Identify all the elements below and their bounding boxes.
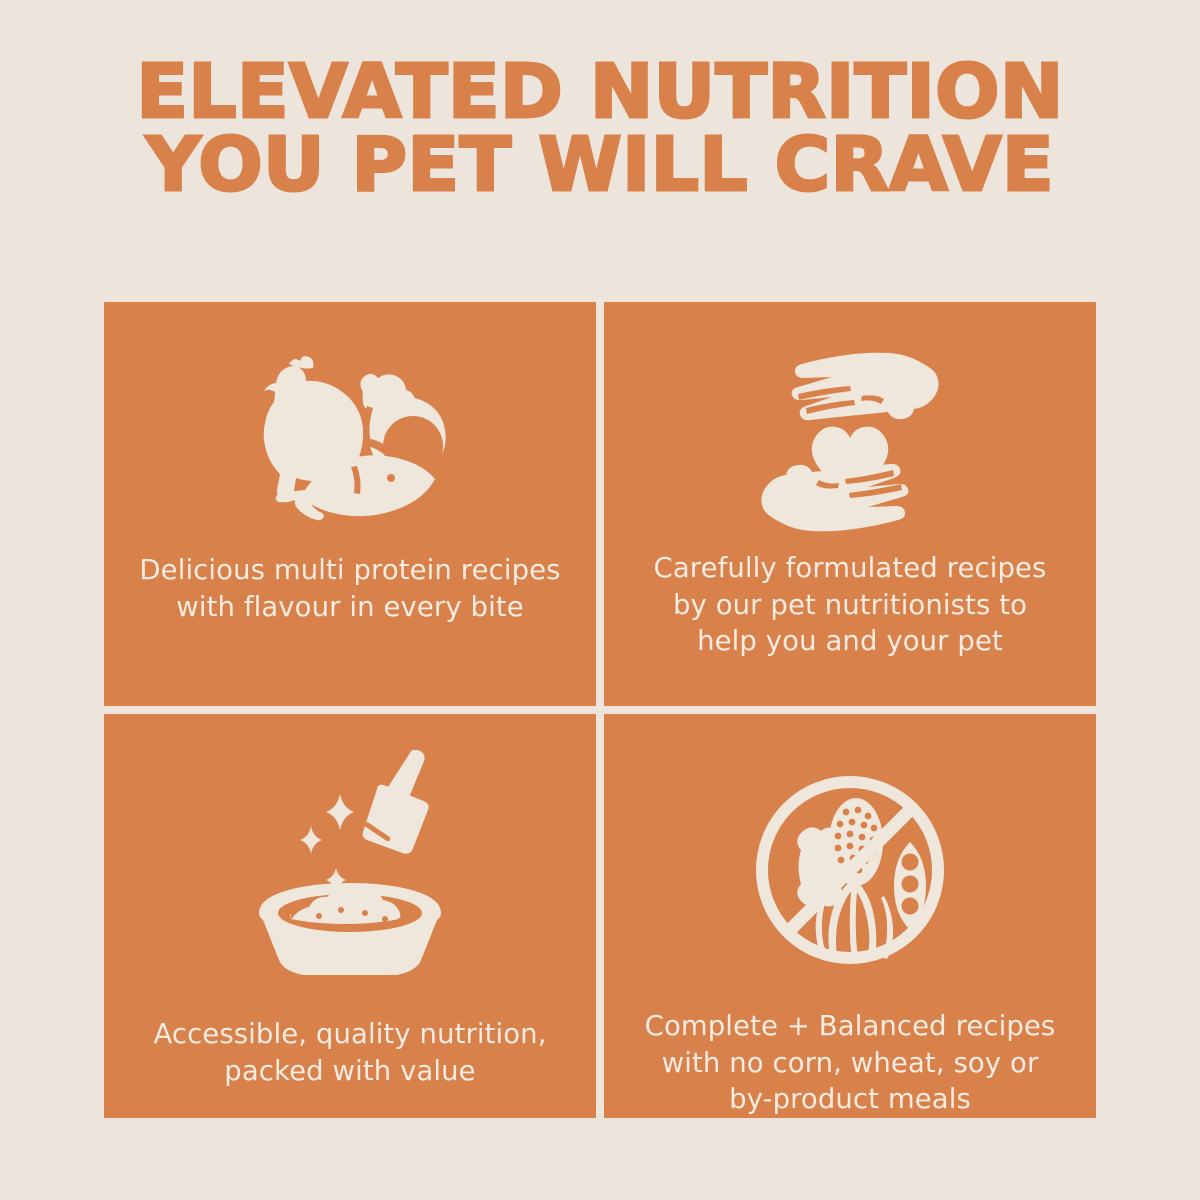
page-title: ELEVATED NUTRITION YOU PET WILL CRAVE [90, 56, 1110, 201]
caption-line: Complete + Balanced recipes [624, 1008, 1077, 1045]
no-corn-wheat-soy-icon [750, 770, 950, 970]
feature-grid: Delicious multi protein recipes with fla… [104, 302, 1096, 1118]
feature-card-caption: Delicious multi protein recipes with fla… [124, 552, 577, 625]
caption-line: help you and your pet [624, 623, 1077, 660]
page-title-line-1: ELEVATED NUTRITION [90, 56, 1110, 129]
caption-line: by our pet nutritionists to [624, 587, 1077, 624]
page-title-line-2: YOU PET WILL CRAVE [90, 129, 1110, 202]
caption-line: Delicious multi protein recipes [124, 552, 577, 589]
feature-card-caption: Complete + Balanced recipes with no corn… [624, 1008, 1077, 1118]
caption-line: packed with value [124, 1053, 577, 1090]
chicken-fish-beef-icon [245, 350, 455, 540]
hands-heart-icon [750, 346, 950, 536]
feature-card-formulated: Carefully formulated recipes by our pet … [604, 302, 1096, 706]
feature-card-caption: Carefully formulated recipes by our pet … [624, 550, 1077, 660]
promo-panel: ELEVATED NUTRITION YOU PET WILL CRAVE [0, 0, 1200, 1200]
feature-card-caption: Accessible, quality nutrition, packed wi… [124, 1016, 577, 1089]
caption-line: by-product meals [624, 1081, 1077, 1118]
feature-card-multi-protein: Delicious multi protein recipes with fla… [104, 302, 596, 706]
caption-line: with flavour in every bite [124, 589, 577, 626]
feature-card-no-fillers: Complete + Balanced recipes with no corn… [604, 714, 1096, 1118]
scoop-bowl-sparkle-icon [245, 752, 455, 972]
caption-line: with no corn, wheat, soy or [624, 1045, 1077, 1082]
caption-line: Accessible, quality nutrition, [124, 1016, 577, 1053]
feature-card-value: Accessible, quality nutrition, packed wi… [104, 714, 596, 1118]
caption-line: Carefully formulated recipes [624, 550, 1077, 587]
